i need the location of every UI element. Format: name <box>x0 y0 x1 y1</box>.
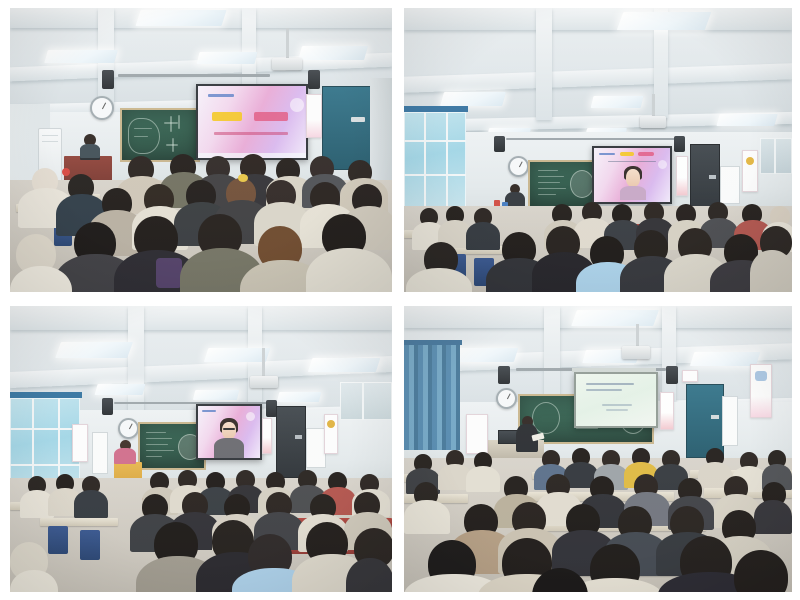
ceiling-light <box>571 310 659 326</box>
wall-notice <box>660 392 674 430</box>
presentation-screen[interactable] <box>196 404 262 460</box>
chalkboard <box>120 108 200 162</box>
window-curtain <box>404 344 460 450</box>
wall-poster <box>742 150 758 192</box>
speaker-face <box>222 422 236 439</box>
window <box>340 382 392 420</box>
wall-box <box>682 370 698 382</box>
panel-bottom-left[interactable] <box>10 306 392 592</box>
whiteboard <box>720 166 740 204</box>
chair <box>48 526 68 554</box>
ceiling-light <box>617 12 712 30</box>
classroom-door[interactable] <box>686 384 724 458</box>
side-cabinet <box>466 414 488 454</box>
wall-speaker <box>308 70 320 89</box>
wall-speaker <box>102 70 114 89</box>
ceiling-light <box>94 384 145 395</box>
wall-clock <box>118 418 139 439</box>
ceiling-light <box>308 358 381 372</box>
panel-bottom-right[interactable] <box>404 306 792 592</box>
ceiling-light <box>277 392 321 402</box>
presentation-screen[interactable] <box>196 84 308 160</box>
slide-headline-right <box>254 112 288 121</box>
photo-collage <box>0 0 800 600</box>
wall-speaker <box>102 398 113 415</box>
window <box>760 138 792 174</box>
student-desk <box>40 518 118 526</box>
wall-poster <box>306 94 322 138</box>
ceiling-light <box>44 50 118 63</box>
ceiling-light <box>193 390 239 400</box>
whiteboard <box>722 396 738 446</box>
ceiling-light <box>440 92 506 106</box>
wall-clock <box>508 156 529 177</box>
wall-clock <box>496 388 517 409</box>
wall-clock <box>90 96 114 120</box>
classroom-door[interactable] <box>322 86 372 170</box>
panel-top-right[interactable] <box>404 8 792 292</box>
presentation-screen[interactable] <box>592 146 672 204</box>
wall-speaker <box>666 366 678 384</box>
wall-notice <box>262 418 272 454</box>
ceiling-light <box>197 52 258 64</box>
whiteboard <box>306 428 326 468</box>
wall-notice <box>676 156 688 196</box>
side-board <box>92 432 108 474</box>
chalkboard <box>528 160 598 208</box>
wall-poster <box>324 414 338 454</box>
wall-speaker <box>674 136 685 152</box>
presentation-screen[interactable] <box>574 372 658 428</box>
classroom-door[interactable] <box>276 406 306 478</box>
wall-poster <box>72 424 88 462</box>
ceiling-light <box>135 10 226 26</box>
ceiling-projector <box>622 346 650 359</box>
ceiling-light <box>55 342 133 358</box>
chair <box>80 530 100 560</box>
ceiling-light <box>591 96 644 108</box>
wall-speaker <box>494 136 505 152</box>
ceiling-projector <box>250 376 278 388</box>
speaker-face <box>626 169 640 187</box>
panel-top-left[interactable] <box>10 8 392 292</box>
ceiling-light <box>204 348 271 362</box>
slide-headline-left <box>212 112 242 121</box>
teacher-body <box>80 144 100 158</box>
ceiling-light <box>716 114 777 126</box>
ceiling-light <box>298 46 368 60</box>
wall-poster <box>750 364 772 418</box>
speaker-glasses <box>223 428 235 430</box>
wall-speaker <box>498 366 510 384</box>
teacher-body <box>114 448 136 464</box>
ceiling-projector <box>640 116 666 128</box>
window <box>404 112 466 220</box>
ceiling-projector <box>272 58 302 70</box>
